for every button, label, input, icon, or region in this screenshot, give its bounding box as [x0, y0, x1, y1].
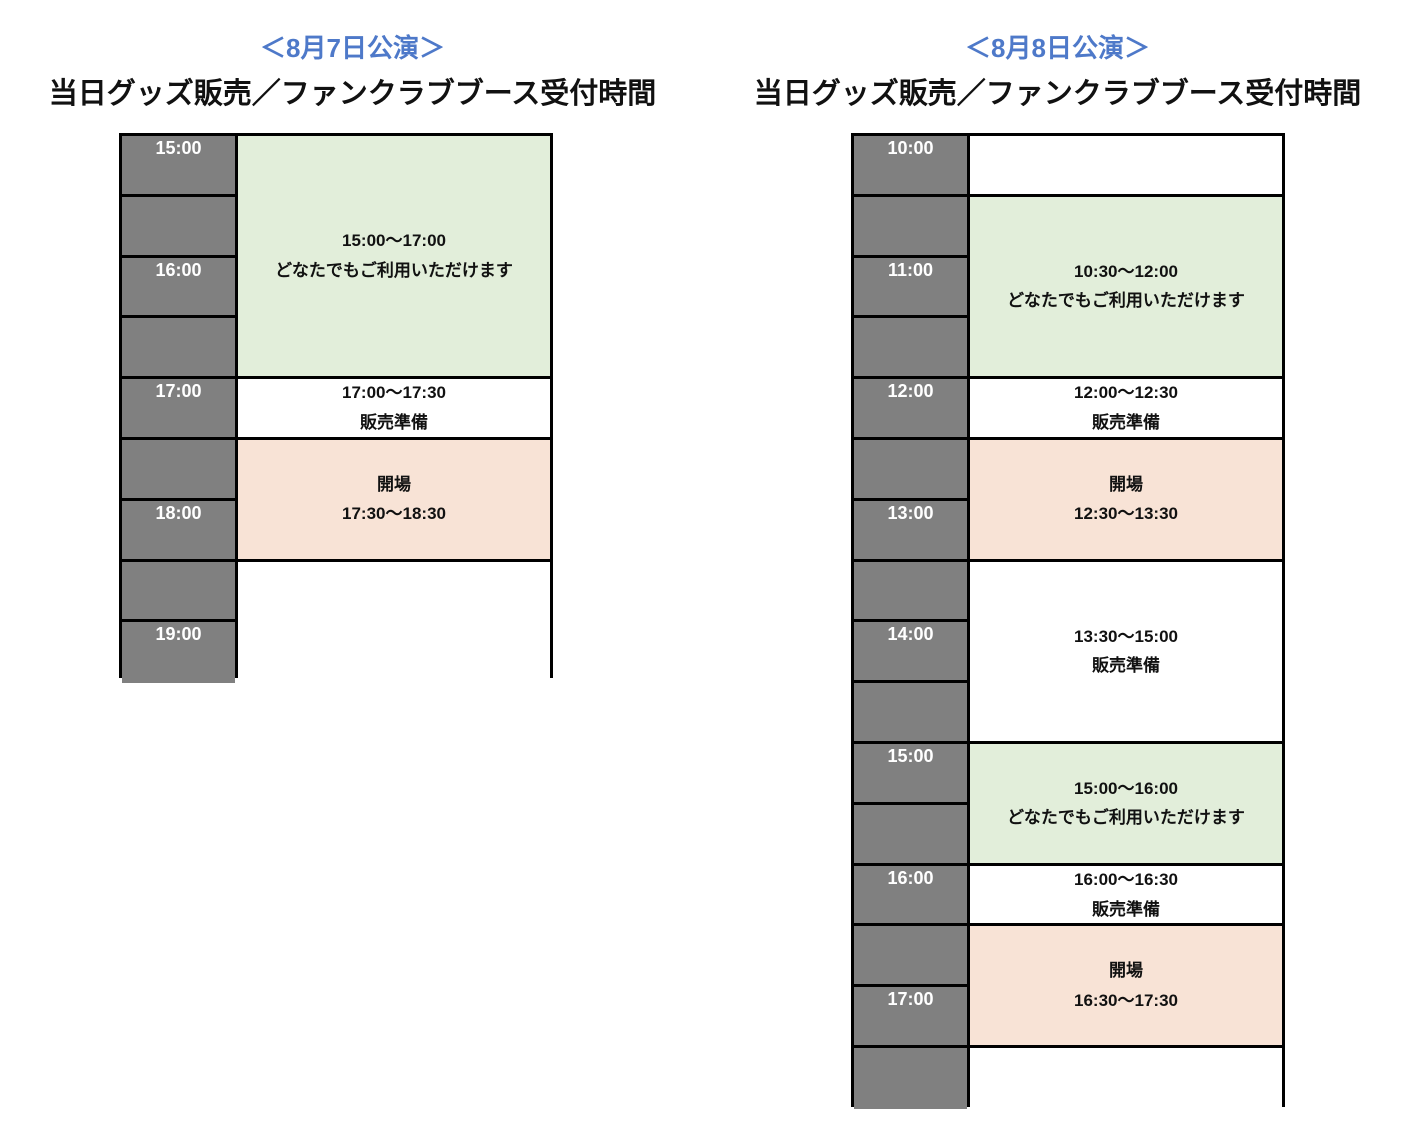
activity-block: 12:00〜12:30販売準備 — [970, 379, 1282, 440]
activity-line-2: 17:30〜18:30 — [342, 499, 446, 529]
time-slot-blank — [854, 440, 967, 501]
activity-block: 16:00〜16:30販売準備 — [970, 866, 1282, 927]
time-slot-blank — [854, 805, 967, 866]
time-label: 15:00 — [155, 139, 201, 157]
time-label: 17:00 — [155, 382, 201, 400]
activity-line-2: 12:30〜13:30 — [1074, 499, 1178, 529]
time-slot-label: 15:00 — [122, 136, 235, 197]
activity-line-1: 13:30〜15:00 — [1074, 622, 1178, 652]
time-label: 16:00 — [155, 261, 201, 279]
time-slot-label: 17:00 — [854, 987, 967, 1048]
activity-block-empty — [970, 136, 1282, 197]
time-slot-label: 12:00 — [854, 379, 967, 440]
activity-line-1: 15:00〜17:00 — [342, 226, 446, 256]
time-slot-label: 16:00 — [854, 866, 967, 927]
schedule-table-aug8: 10:0011:0012:0013:0014:0015:0016:0017:00… — [851, 133, 1285, 1107]
subject-title-aug7: 当日グッズ販売／ファンクラブブース受付時間 — [0, 70, 705, 112]
activity-block: 開場17:30〜18:30 — [238, 440, 550, 562]
activity-line-2: どなたでもご利用いただけます — [275, 256, 513, 286]
time-label: 16:00 — [887, 869, 933, 887]
activity-line-2: 販売準備 — [1092, 408, 1160, 438]
subject-title-aug8: 当日グッズ販売／ファンクラブブース受付時間 — [705, 70, 1410, 112]
activity-line-1: 17:00〜17:30 — [342, 378, 446, 408]
time-label: 17:00 — [887, 990, 933, 1008]
time-slot-label: 19:00 — [122, 622, 235, 683]
activity-line-2: 16:30〜17:30 — [1074, 986, 1178, 1016]
activity-line-2: 販売準備 — [1092, 651, 1160, 681]
time-slot-label: 14:00 — [854, 622, 967, 683]
activity-line-1: 10:30〜12:00 — [1074, 257, 1178, 287]
time-slot-blank — [122, 197, 235, 258]
activity-line-1: 12:00〜12:30 — [1074, 378, 1178, 408]
time-slot-label: 10:00 — [854, 136, 967, 197]
time-slot-blank — [854, 562, 967, 623]
activity-line-2: どなたでもご利用いただけます — [1007, 803, 1245, 833]
activity-line-1: 開場 — [377, 470, 411, 500]
date-title-aug8: ＜8月8日公演＞ — [705, 0, 1410, 65]
activity-line-2: 販売準備 — [360, 408, 428, 438]
time-label: 14:00 — [887, 625, 933, 643]
time-label: 15:00 — [887, 747, 933, 765]
activity-line-2: どなたでもご利用いただけます — [1007, 286, 1245, 316]
time-label: 19:00 — [155, 625, 201, 643]
time-label: 13:00 — [887, 504, 933, 522]
activity-block: 開場12:30〜13:30 — [970, 440, 1282, 562]
time-slot-label: 15:00 — [854, 744, 967, 805]
time-slot-blank — [854, 926, 967, 987]
time-slot-blank — [122, 318, 235, 379]
time-label: 11:00 — [888, 261, 933, 279]
activity-block: 17:00〜17:30販売準備 — [238, 379, 550, 440]
activity-block: 開場16:30〜17:30 — [970, 926, 1282, 1048]
time-slot-label: 11:00 — [854, 258, 967, 319]
schedule-table-aug7: 15:0016:0017:0018:0019:00 15:00〜17:00どなた… — [119, 133, 553, 678]
activity-block: 13:30〜15:00販売準備 — [970, 562, 1282, 744]
time-slot-blank — [854, 683, 967, 744]
activity-line-1: 16:00〜16:30 — [1074, 865, 1178, 895]
time-slot-label: 18:00 — [122, 501, 235, 562]
activity-column-aug8: 10:30〜12:00どなたでもご利用いただけます12:00〜12:30販売準備… — [970, 136, 1282, 1104]
time-slot-label: 16:00 — [122, 258, 235, 319]
activity-line-1: 開場 — [1109, 470, 1143, 500]
time-column-aug8: 10:0011:0012:0013:0014:0015:0016:0017:00 — [854, 136, 967, 1104]
time-label: 18:00 — [155, 504, 201, 522]
activity-line-1: 開場 — [1109, 956, 1143, 986]
time-slot-blank — [122, 562, 235, 623]
time-slot-blank — [854, 1048, 967, 1109]
activity-block-empty — [238, 562, 550, 684]
time-label: 10:00 — [887, 139, 933, 157]
activity-block: 10:30〜12:00どなたでもご利用いただけます — [970, 197, 1282, 379]
time-slot-label: 17:00 — [122, 379, 235, 440]
activity-column-aug7: 15:00〜17:00どなたでもご利用いただけます17:00〜17:30販売準備… — [238, 136, 550, 675]
activity-block: 15:00〜16:00どなたでもご利用いただけます — [970, 744, 1282, 866]
time-column-aug7: 15:0016:0017:0018:0019:00 — [122, 136, 235, 675]
activity-block-empty — [970, 1048, 1282, 1109]
time-slot-blank — [854, 318, 967, 379]
activity-line-1: 15:00〜16:00 — [1074, 774, 1178, 804]
activity-line-2: 販売準備 — [1092, 895, 1160, 925]
time-slot-blank — [122, 440, 235, 501]
time-label: 12:00 — [887, 382, 933, 400]
time-slot-label: 13:00 — [854, 501, 967, 562]
date-title-aug7: ＜8月7日公演＞ — [0, 0, 705, 65]
time-slot-blank — [854, 197, 967, 258]
activity-block: 15:00〜17:00どなたでもご利用いただけます — [238, 136, 550, 379]
